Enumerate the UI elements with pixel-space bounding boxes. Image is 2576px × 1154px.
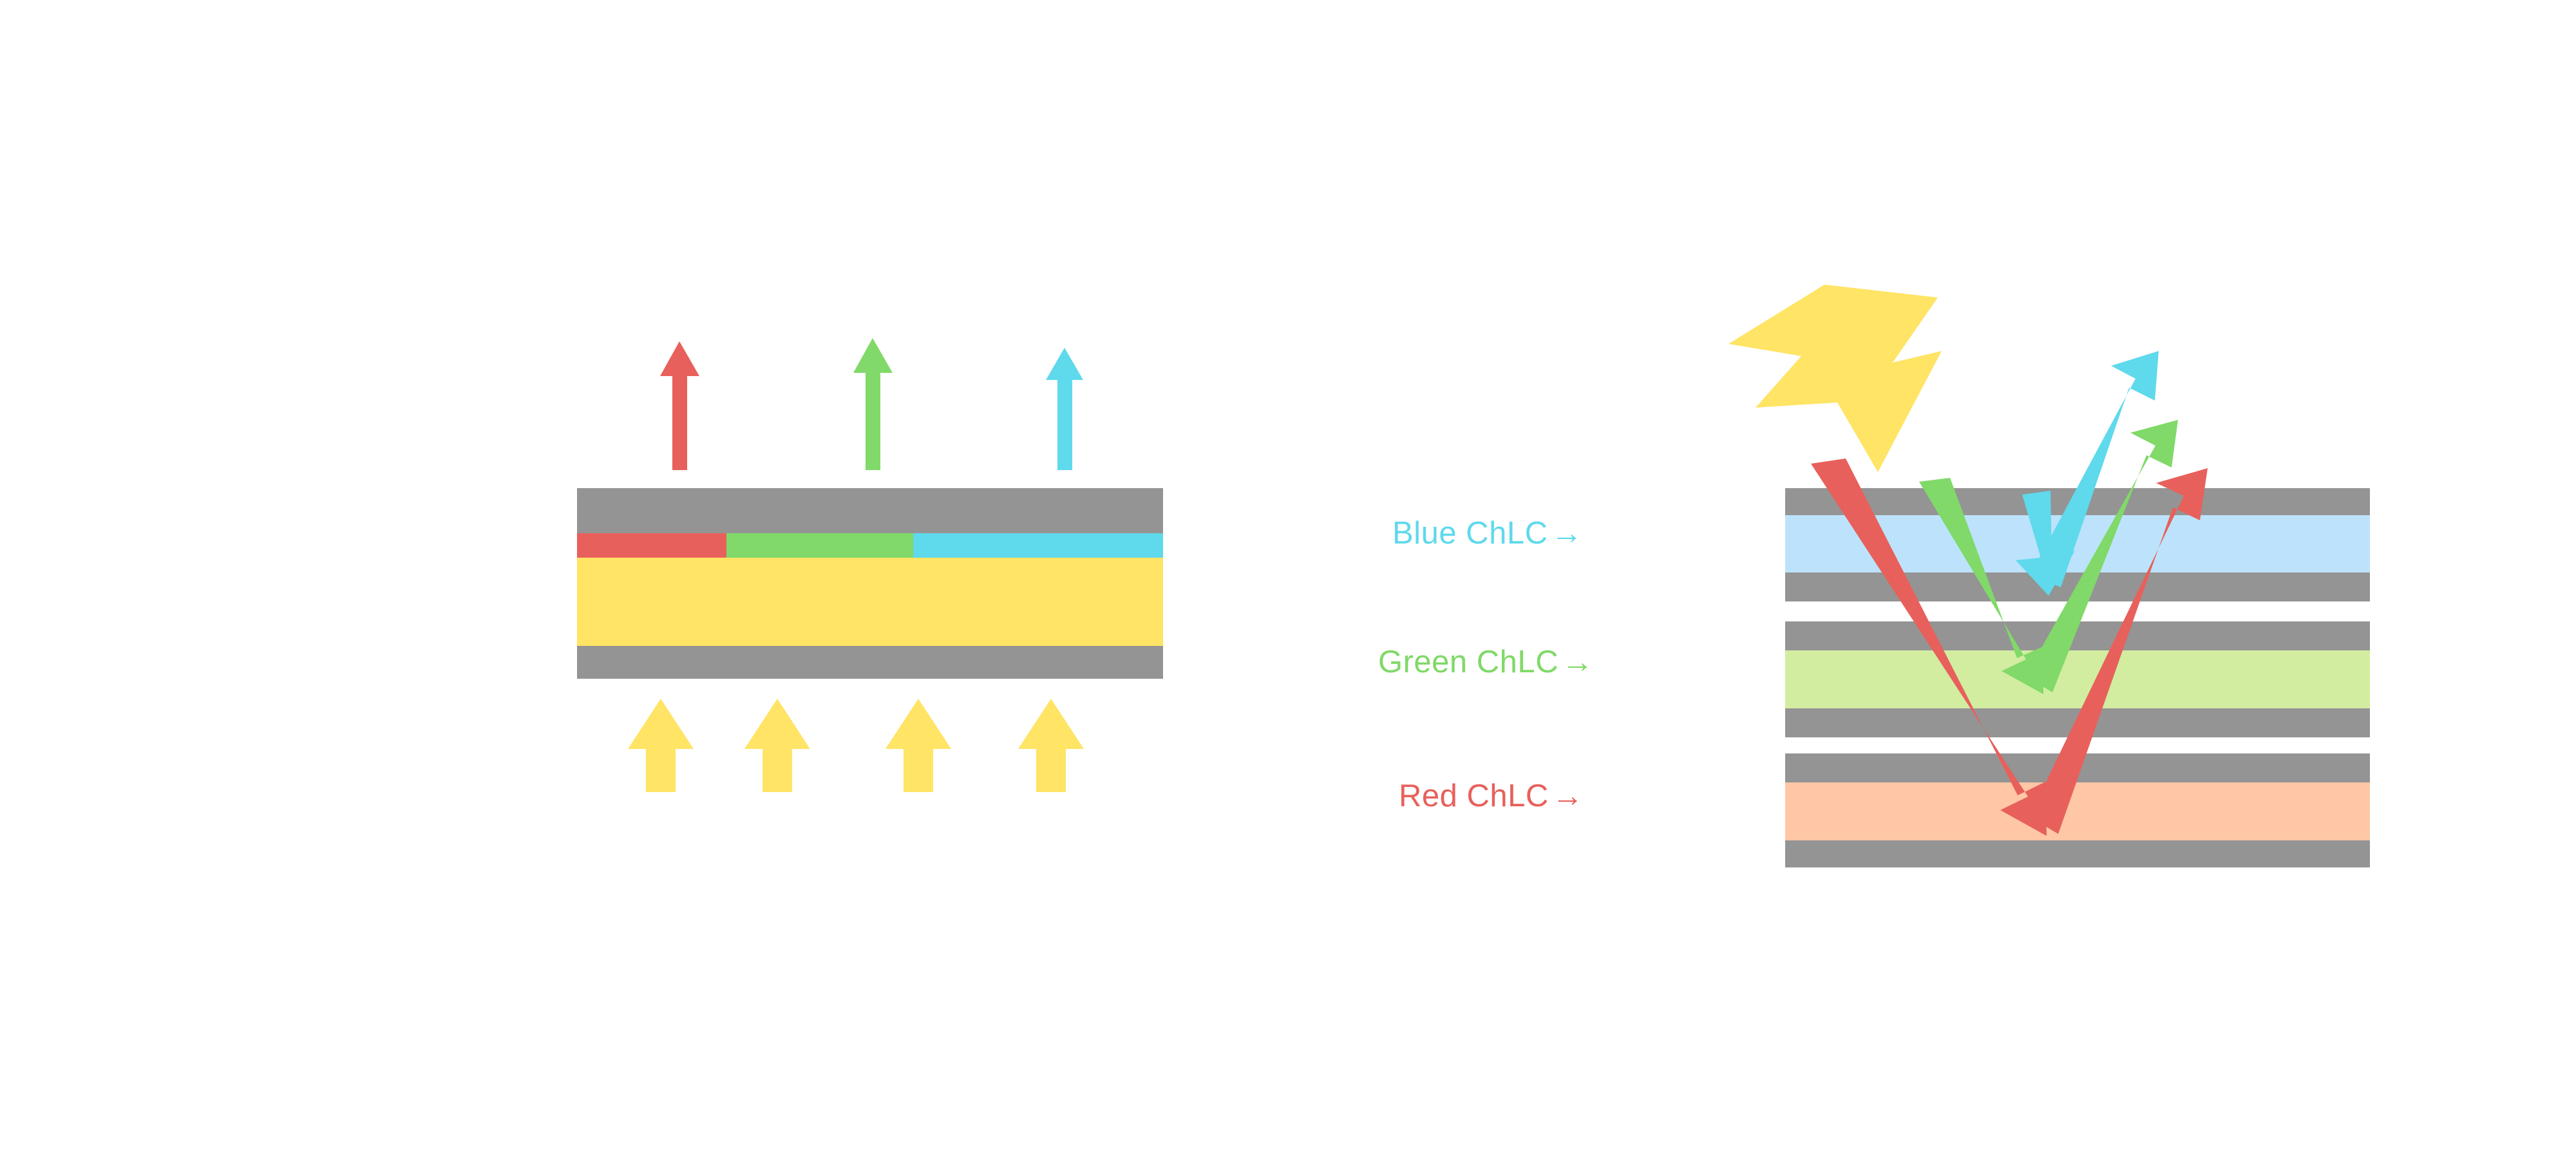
top-electrode-layer: [577, 488, 1163, 533]
backlight-ray-2: [743, 699, 812, 792]
color-filter-row: [577, 533, 1163, 558]
red-incoming-ray: [1811, 459, 2047, 836]
emitted-blue-ray: [1043, 348, 1086, 470]
backlight-ray-4: [1016, 699, 1086, 792]
incident-white-light-arrow: [1728, 285, 1942, 472]
blue-filter-segment: [913, 533, 1163, 558]
emitted-green-ray: [850, 338, 895, 470]
emitted-red-ray: [657, 341, 702, 470]
right-panel-reflective-stack: Blue ChLC → Green ChLC → Red ChLC →: [1256, 0, 2576, 1154]
red-filter-segment: [577, 533, 726, 558]
diagram-canvas: Blue ChLC → Green ChLC → Red ChLC →: [0, 0, 2576, 1154]
backlight-ray-3: [884, 699, 953, 792]
left-panel-transmissive-stack: [0, 0, 1256, 1154]
blue-reflected-ray: [2031, 351, 2159, 587]
ray-overlay: [1256, 0, 2576, 1154]
yellow-backlight-layer: [577, 558, 1163, 646]
bottom-electrode-layer: [577, 646, 1163, 679]
green-incoming-ray: [1919, 478, 2043, 694]
backlight-ray-1: [626, 699, 696, 792]
green-filter-segment: [726, 533, 913, 558]
